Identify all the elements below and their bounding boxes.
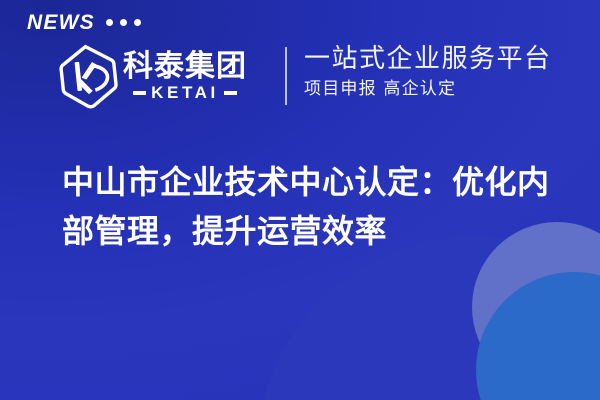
page-title: 中山市企业技术中心认定：优化内部管理，提升运营效率	[62, 158, 567, 255]
logo-latin-name: KETAI	[151, 84, 219, 101]
news-dots	[106, 19, 141, 26]
dot-icon	[120, 19, 127, 26]
decorative-circle-bright	[476, 272, 600, 400]
tagline-sub: 项目申报 高企认定	[304, 79, 552, 99]
dot-icon	[106, 19, 113, 26]
news-label: NEWS	[27, 12, 95, 33]
dot-icon	[134, 19, 141, 26]
ketai-diamond-monogram-icon	[58, 42, 120, 110]
brand-logo: 科泰集团 KETAI	[58, 42, 247, 110]
header-divider	[285, 47, 287, 105]
tagline-block: 一站式企业服务平台 项目申报 高企认定	[304, 44, 552, 99]
logo-rule-right	[224, 91, 237, 95]
logo-company-name: 科泰集团	[123, 51, 247, 83]
decorative-arc-shape	[256, 236, 600, 400]
news-ribbon: NEWS	[27, 12, 141, 33]
logo-rule-left	[133, 91, 146, 95]
logo-latin-row: KETAI	[123, 84, 247, 101]
tagline-main: 一站式企业服务平台	[304, 44, 552, 75]
logo-wordmark: 科泰集团 KETAI	[123, 51, 247, 101]
news-banner: NEWS 科泰集团 KETAI	[0, 0, 600, 400]
